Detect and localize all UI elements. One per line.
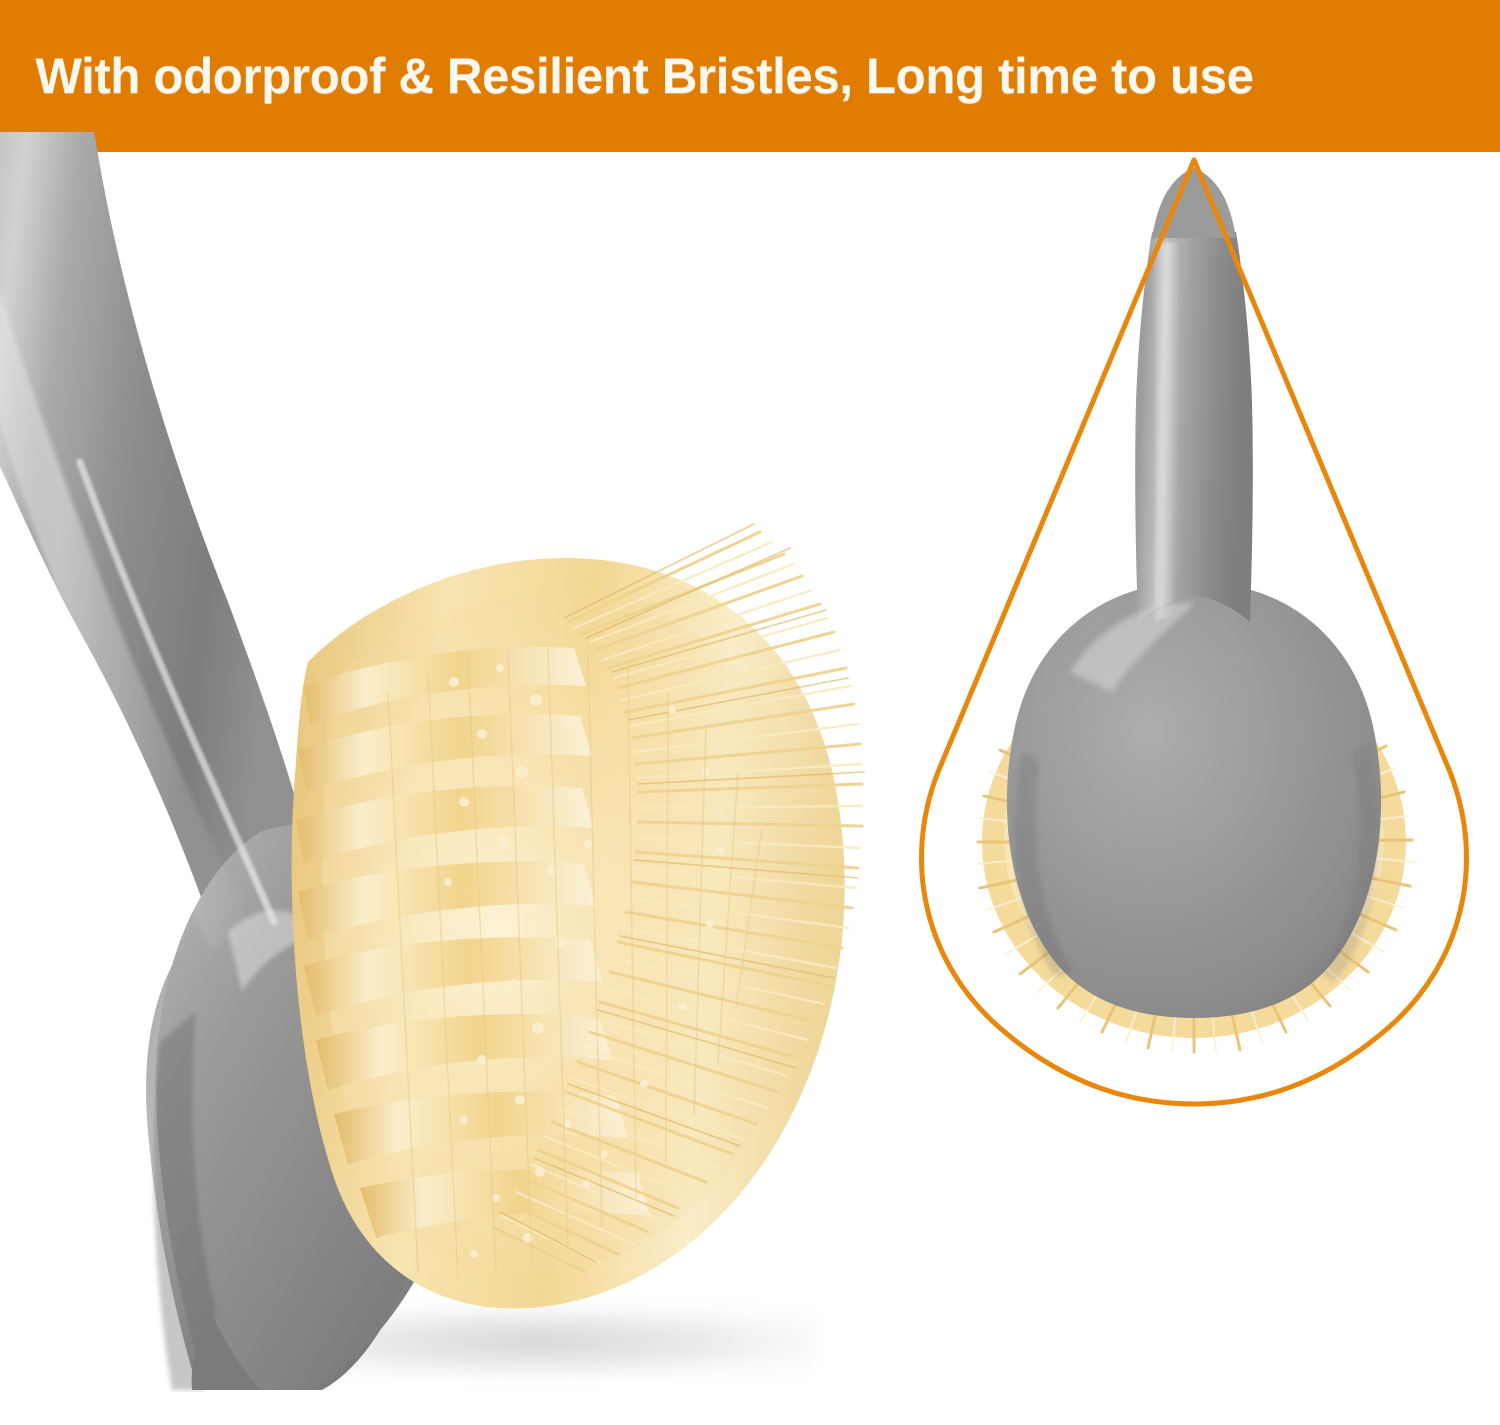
brush-bristles [268,472,888,1352]
callout-handle-gloss [1152,242,1180,622]
callout-handle-neck [1135,232,1253,622]
headline-text: With odorproof & Resilient Bristles, Lon… [0,51,1254,101]
headline-banner: With odorproof & Resilient Bristles, Lon… [0,0,1500,152]
main-product-view [0,152,960,1425]
product-marketing-image: With odorproof & Resilient Bristles, Lon… [0,0,1500,1425]
callout-teardrop [890,152,1500,1112]
detail-callout [890,152,1500,1112]
product-photo-stage [0,152,1500,1425]
